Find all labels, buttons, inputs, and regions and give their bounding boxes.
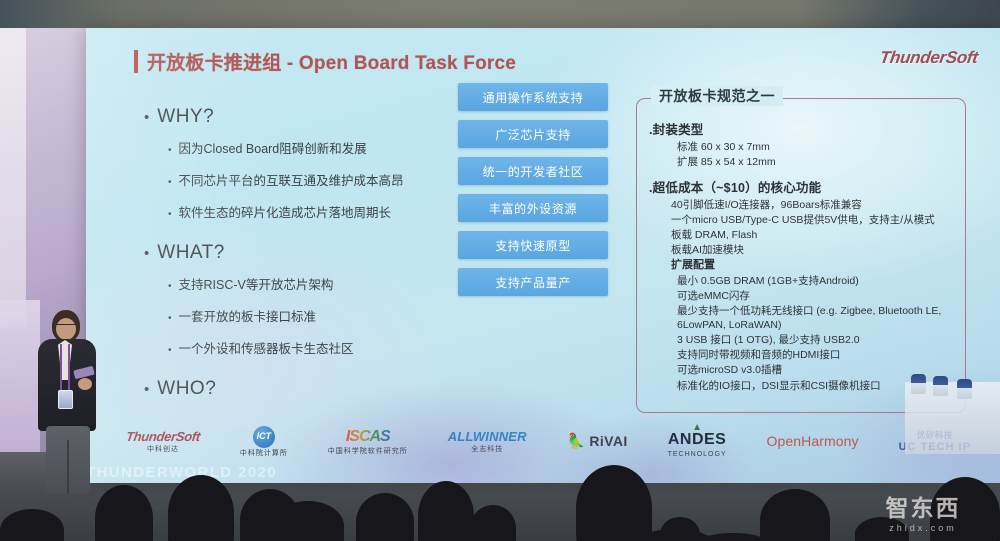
feature-box: 丰富的外设资源 bbox=[458, 194, 608, 222]
spec-item: 40引脚低速I/O连接器，96Boars标准兼容 bbox=[671, 198, 955, 212]
spec-panel-title: 开放板卡规范之一 bbox=[651, 86, 783, 106]
list-item-label: 支持RISC-V等开放芯片架构 bbox=[179, 274, 334, 293]
spec-panel: 开放板卡规范之一 .封装类型 标准 60 x 30 x 7mm 扩展 85 x … bbox=[636, 98, 966, 413]
audience-member bbox=[0, 509, 64, 541]
spec-item: 可选eMMC闪存 bbox=[677, 289, 955, 303]
feature-box: 支持快速原型 bbox=[458, 231, 608, 259]
title-accent-bar bbox=[134, 50, 138, 73]
partner-logo-label: ThunderSoft bbox=[125, 430, 201, 444]
partner-logo-label: ISCAS bbox=[346, 428, 390, 446]
list-item-label: 因为Closed Board阻碍创新和发展 bbox=[179, 138, 367, 157]
audience-member bbox=[576, 465, 652, 541]
section-why: • WHY? • 因为Closed Board阻碍创新和发展 • 不同芯片平台的… bbox=[144, 106, 444, 221]
spec-item: 扩展 85 x 54 x 12mm bbox=[677, 155, 955, 169]
partner-logo-sublabel: TECHNOLOGY bbox=[668, 451, 727, 459]
thundersoft-logo-text: ThunderSoft bbox=[879, 48, 979, 67]
presenter-lanyard bbox=[60, 344, 70, 392]
ict-badge-icon: ICT bbox=[253, 426, 275, 448]
water-bottle bbox=[933, 376, 948, 396]
bullet-dot-icon: • bbox=[168, 178, 172, 188]
list-item-label: 一个外设和传感器板卡生态社区 bbox=[179, 338, 354, 357]
spec-panel-body: .封装类型 标准 60 x 30 x 7mm 扩展 85 x 54 x 12mm… bbox=[637, 99, 965, 400]
list-item: • 一个外设和传感器板卡生态社区 bbox=[168, 338, 444, 357]
partner-logo-sublabel: 中科院计算所 bbox=[240, 450, 288, 458]
feature-box-label: 统一的开发者社区 bbox=[483, 163, 584, 180]
partner-logo-iscas: ISCAS 中国科学院软件研究所 bbox=[328, 428, 408, 455]
spec-item: 最小 0.5GB DRAM (1GB+支持Android) bbox=[677, 274, 955, 288]
partner-logo-strip: ThunderSoft 中科创达 ICT 中科院计算所 ISCAS 中国科学院软… bbox=[126, 418, 971, 466]
presenter-face bbox=[56, 318, 76, 340]
water-bottle bbox=[957, 379, 972, 399]
zhidx-watermark: 智东西 zhidx.com bbox=[858, 497, 988, 533]
partner-logo-allwinner: ALLWINNER 全志科技 bbox=[448, 430, 527, 454]
conference-stage-scene: 开放板卡推进组 - Open Board Task Force ThunderS… bbox=[0, 0, 1000, 541]
spec-group-heading: .超低成本（~$10）的核心功能 bbox=[649, 177, 955, 196]
list-item-label: 不同芯片平台的互联互通及维护成本高昂 bbox=[179, 170, 404, 189]
list-item-label: 一套开放的板卡接口标准 bbox=[179, 306, 317, 325]
glasses-icon bbox=[56, 324, 76, 329]
section-heading-label: WHO? bbox=[157, 378, 216, 400]
partner-logo-label: RiVAI bbox=[589, 434, 627, 449]
list-item: • 软件生态的碎片化造成芯片落地周期长 bbox=[168, 202, 444, 221]
zhidx-watermark-cn: 智东西 bbox=[858, 497, 988, 520]
audience-member bbox=[418, 481, 474, 541]
bullet-dot-icon: • bbox=[144, 110, 149, 125]
presenter-speaker bbox=[30, 310, 106, 490]
feature-box-label: 丰富的外设资源 bbox=[489, 200, 577, 217]
audience-silhouettes bbox=[0, 470, 1000, 541]
bullet-dot-icon: • bbox=[168, 146, 172, 156]
thundersoft-logo: ThunderSoft bbox=[879, 48, 980, 68]
audience-member bbox=[700, 533, 766, 541]
audience-member bbox=[760, 489, 830, 541]
spec-item: 标准 60 x 30 x 7mm bbox=[677, 140, 955, 154]
audience-member bbox=[356, 493, 414, 541]
partner-logo-label: ALLWINNER bbox=[448, 430, 527, 444]
feature-box: 通用操作系统支持 bbox=[458, 83, 608, 111]
feature-box-label: 支持快速原型 bbox=[495, 237, 571, 254]
parrot-icon: 🦜 bbox=[567, 434, 586, 451]
rivai-row: 🦜 RiVAI bbox=[567, 434, 628, 451]
partner-logo-openharmony: OpenHarmony bbox=[767, 434, 859, 449]
side-table bbox=[905, 382, 1000, 454]
zhidx-watermark-en: zhidx.com bbox=[858, 523, 988, 533]
feature-box: 广泛芯片支持 bbox=[458, 120, 608, 148]
bullet-dot-icon: • bbox=[144, 382, 149, 397]
bullet-dot-icon: • bbox=[168, 210, 172, 220]
list-item: • 不同芯片平台的互联互通及维护成本高昂 bbox=[168, 170, 444, 189]
list-item: • 一套开放的板卡接口标准 bbox=[168, 306, 444, 325]
list-item-label: 软件生态的碎片化造成芯片落地周期长 bbox=[179, 202, 392, 221]
partner-logo-sublabel: 全志科技 bbox=[471, 446, 503, 454]
partner-logo-thundersoft: ThunderSoft 中科创达 bbox=[126, 430, 200, 454]
audience-member bbox=[470, 505, 516, 541]
spec-item: 3 USB 接口 (1 OTG), 最少支持 USB2.0 bbox=[677, 333, 955, 347]
section-heading-what: • WHAT? bbox=[144, 242, 444, 264]
audience-member bbox=[168, 475, 234, 541]
partner-logo-ict: ICT 中科院计算所 bbox=[240, 426, 288, 458]
page-title: 开放板卡推进组 - Open Board Task Force bbox=[147, 48, 516, 75]
list-item: • 支持RISC-V等开放芯片架构 bbox=[168, 274, 444, 293]
audience-member bbox=[272, 501, 344, 541]
section-heading-label: WHY? bbox=[157, 106, 214, 128]
stage-left-white-panel bbox=[0, 28, 26, 328]
section-what: • WHAT? • 支持RISC-V等开放芯片架构 • 一套开放的板卡接口标准 … bbox=[144, 242, 444, 357]
feature-box: 支持产品量产 bbox=[458, 268, 608, 296]
partner-logo-label: ANDES bbox=[668, 431, 727, 449]
section-who: • WHO? bbox=[144, 378, 444, 400]
presenter-badge bbox=[58, 390, 73, 409]
list-item: • 因为Closed Board阻碍创新和发展 bbox=[168, 138, 444, 157]
feature-box-label: 支持产品量产 bbox=[495, 274, 571, 291]
partner-logo-label: OpenHarmony bbox=[767, 434, 859, 449]
feature-box: 统一的开发者社区 bbox=[458, 157, 608, 185]
projection-screen-slide: 开放板卡推进组 - Open Board Task Force ThunderS… bbox=[86, 28, 1000, 483]
feature-box-label: 广泛芯片支持 bbox=[495, 126, 571, 143]
feature-box-label: 通用操作系统支持 bbox=[483, 89, 584, 106]
bullet-dot-icon: • bbox=[168, 314, 172, 324]
spec-item: 一个micro USB/Type-C USB提供5V供电，支持主/从模式 bbox=[671, 213, 955, 227]
room-wall bbox=[0, 0, 1000, 30]
feature-box-column: 通用操作系统支持 广泛芯片支持 统一的开发者社区 丰富的外设资源 支持快速原型 … bbox=[458, 83, 608, 296]
bullet-dot-icon: • bbox=[168, 282, 172, 292]
slide-title-group: 开放板卡推进组 - Open Board Task Force bbox=[134, 48, 516, 75]
spec-spacer bbox=[649, 170, 955, 177]
partner-logo-rivai: 🦜 RiVAI bbox=[567, 434, 628, 451]
section-heading-label: WHAT? bbox=[157, 242, 225, 264]
spec-subgroup-heading: 扩展配置 bbox=[671, 258, 955, 273]
partner-logo-sublabel: 中科创达 bbox=[147, 446, 179, 454]
spec-item: 支持同时带视频和音频的HDMI接口 bbox=[677, 348, 955, 362]
spec-item: 最少支持一个低功耗无线接口 (e.g. Zigbee, Bluetooth LE… bbox=[677, 304, 955, 332]
section-heading-why: • WHY? bbox=[144, 106, 444, 128]
partner-logo-label: ICT bbox=[257, 432, 272, 442]
left-content-column: • WHY? • 因为Closed Board阻碍创新和发展 • 不同芯片平台的… bbox=[144, 106, 444, 410]
partner-logo-sublabel: 中国科学院软件研究所 bbox=[328, 448, 408, 456]
bullet-dot-icon: • bbox=[168, 346, 172, 356]
presenter-hand bbox=[78, 378, 92, 390]
water-bottle bbox=[911, 374, 926, 394]
partner-logo-andes: ▲ ANDES TECHNOLOGY bbox=[668, 425, 727, 458]
spec-group-heading: .封装类型 bbox=[649, 119, 955, 138]
bullet-dot-icon: • bbox=[144, 246, 149, 261]
section-heading-who: • WHO? bbox=[144, 378, 444, 400]
spec-item: 板载 DRAM, Flash bbox=[671, 228, 955, 242]
spec-item: 板载AI加速模块 bbox=[671, 243, 955, 257]
